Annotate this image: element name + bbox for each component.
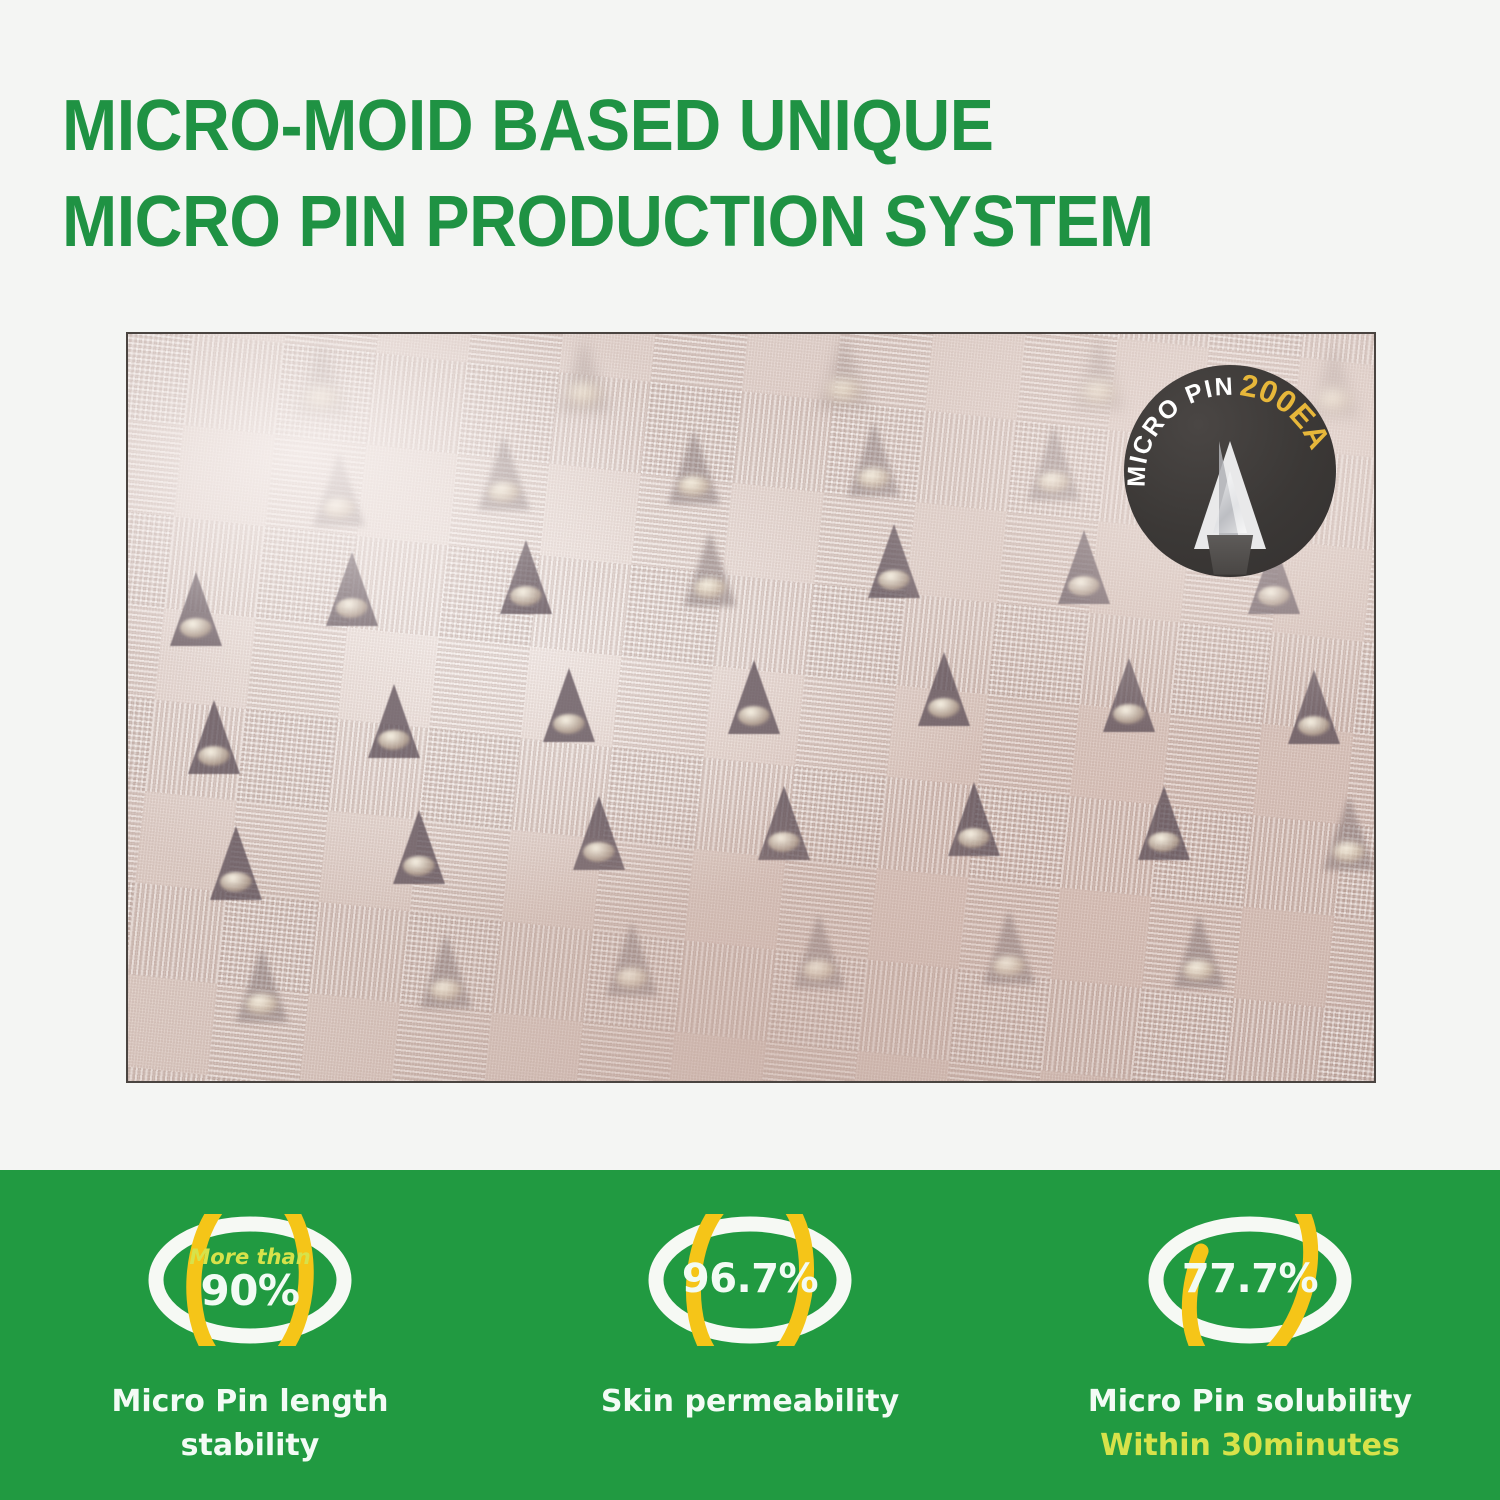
stat-caption-3: Micro Pin solubility Within 30minutes	[1088, 1380, 1412, 1468]
badge-text-main: MICRO PIN	[1124, 373, 1235, 488]
stat-caption-2-line-1: Skin permeability	[601, 1380, 899, 1424]
progress-ring-1-center: More than 90%	[144, 1214, 356, 1346]
stats-band: More than 90% Micro Pin length stability…	[0, 1170, 1500, 1500]
stat-caption-2: Skin permeability	[601, 1380, 899, 1424]
stat-micro-pin-solubility: 77.7% Micro Pin solubility Within 30minu…	[1000, 1170, 1500, 1468]
page-title-line-1: MICRO-MOID BASED UNIQUE	[62, 78, 1295, 174]
stat-caption-3-line-1: Micro Pin solubility	[1088, 1380, 1412, 1424]
page-title-line-2: MICRO PIN PRODUCTION SYSTEM	[62, 174, 1295, 270]
stat-value-1: 90%	[200, 1269, 299, 1313]
badge-text-accent: 200EA	[1238, 367, 1336, 455]
stat-value-2: 96.7%	[682, 1257, 818, 1301]
stat-value-3: 77.7%	[1182, 1257, 1318, 1301]
stat-caption-1: Micro Pin length stability	[111, 1380, 388, 1468]
progress-ring-3-center: 77.7%	[1144, 1214, 1356, 1346]
progress-ring-1: More than 90%	[144, 1214, 356, 1346]
stat-subcaption-3: Within 30minutes	[1088, 1424, 1412, 1468]
stat-caption-1-line-1: Micro Pin length	[111, 1380, 388, 1424]
progress-ring-2: 96.7%	[644, 1214, 856, 1346]
progress-ring-2-center: 96.7%	[644, 1214, 856, 1346]
stat-micro-pin-length-stability: More than 90% Micro Pin length stability	[0, 1170, 500, 1468]
stat-prefix-1: More than	[189, 1246, 310, 1268]
micro-pin-microscope-photo: MICRO PIN 200EA	[126, 332, 1376, 1083]
stat-caption-1-line-2: stability	[111, 1424, 388, 1468]
page-title: MICRO-MOID BASED UNIQUE MICRO PIN PRODUC…	[62, 78, 1402, 270]
badge-curved-text: MICRO PIN 200EA	[1124, 365, 1336, 577]
progress-ring-3: 77.7%	[1144, 1214, 1356, 1346]
stats-row: More than 90% Micro Pin length stability…	[0, 1170, 1500, 1500]
stat-skin-permeability: 96.7% Skin permeability	[500, 1170, 1000, 1424]
micro-pin-count-badge: MICRO PIN 200EA	[1124, 365, 1336, 577]
